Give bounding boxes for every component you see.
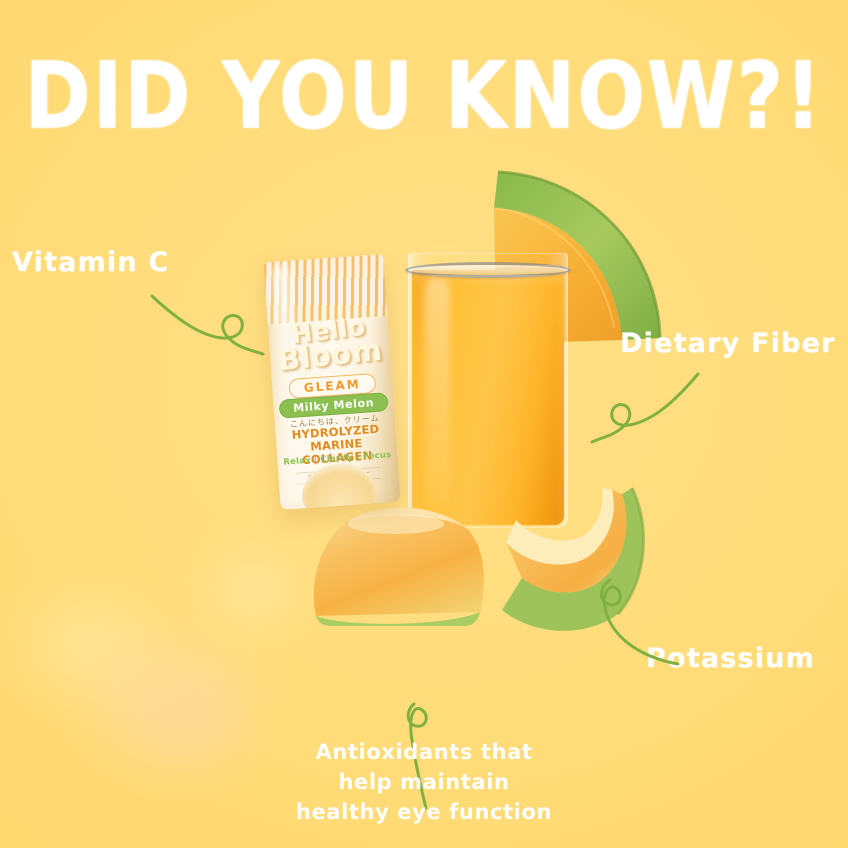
nutrient-label-vitamin-c: Vitamin C	[12, 247, 169, 278]
caption-line-3: healthy eye function	[0, 798, 848, 828]
product-sachet: Hello Bloom GLEAM Milky Melon こんにちは、クリーム…	[263, 254, 400, 510]
juice-highlight	[424, 277, 450, 509]
sachet-body: Hello Bloom GLEAM Milky Melon こんにちは、クリーム…	[263, 254, 400, 510]
product-composition: Hello Bloom GLEAM Milky Melon こんにちは、クリーム…	[0, 0, 848, 848]
bottom-caption: Antioxidants that help maintain healthy …	[0, 738, 848, 827]
caption-line-1: Antioxidants that	[0, 738, 848, 768]
poster-canvas: DID YOU KNOW?!	[0, 0, 848, 848]
glass-rim	[405, 262, 571, 278]
caption-line-2: help maintain	[0, 768, 848, 798]
nutrient-label-potassium: Potassium	[646, 643, 815, 674]
melon-wedge-crescent-icon	[482, 478, 657, 643]
melon-wedge-flat-icon	[288, 494, 498, 629]
nutrient-label-dietary-fiber: Dietary Fiber	[620, 328, 836, 359]
